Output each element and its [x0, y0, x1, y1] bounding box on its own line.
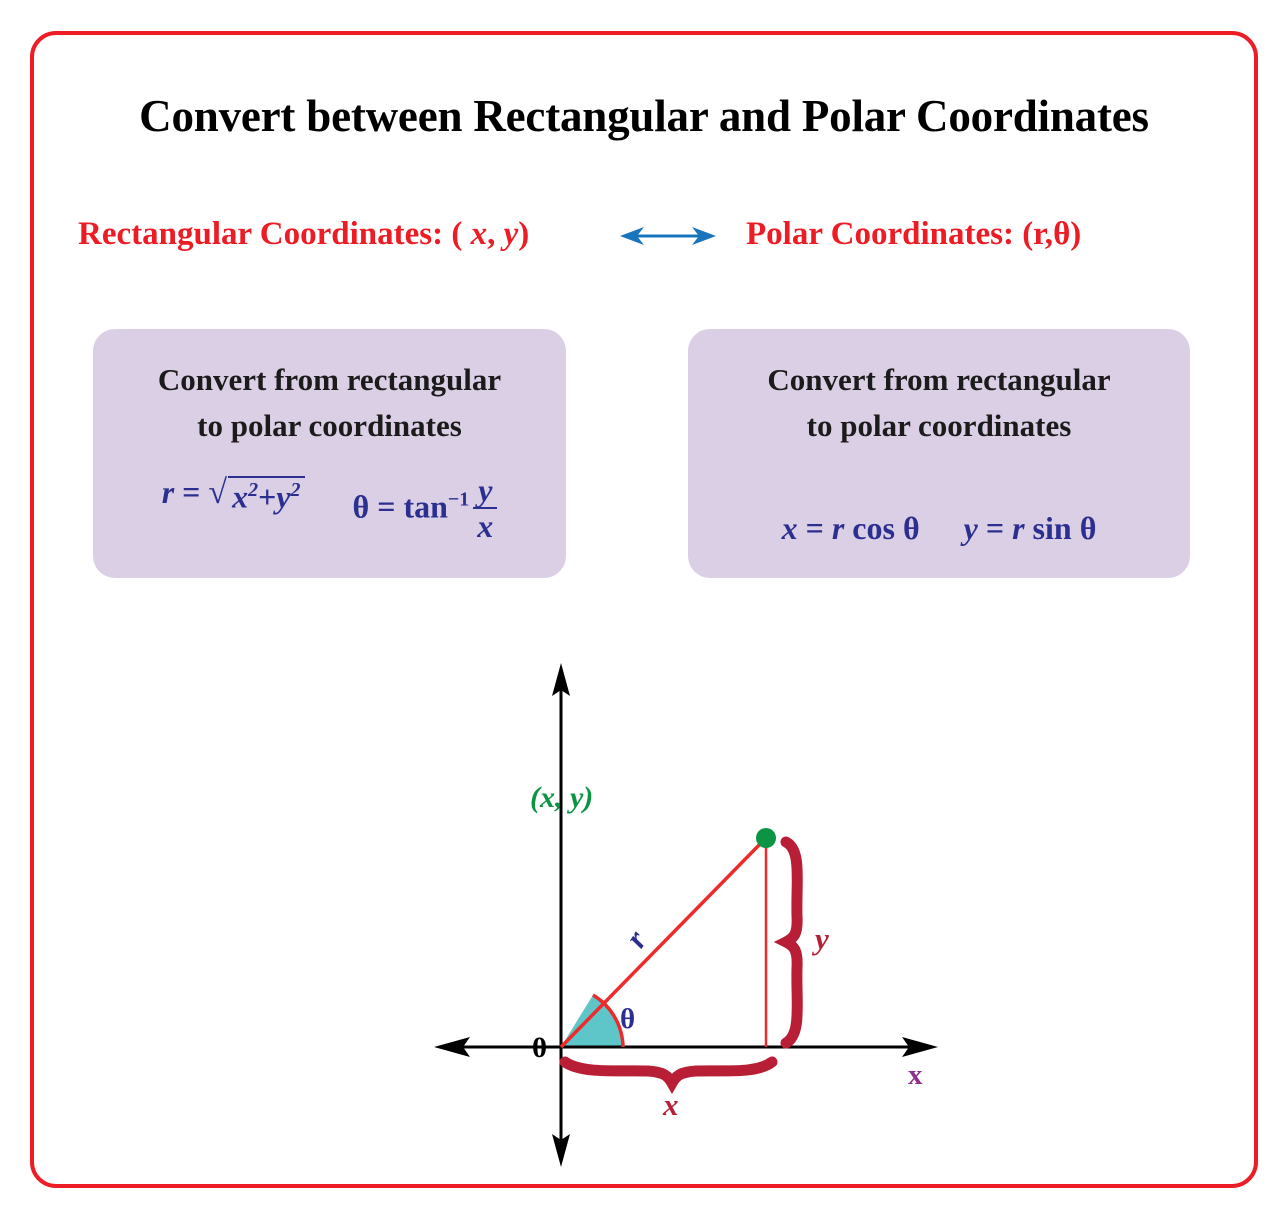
box-heading-right: Convert from rectangular to polar coordi…: [688, 357, 1190, 449]
formula-y-equation: y = r sin θ: [964, 512, 1097, 544]
polar-coordinates-label: Polar Coordinates: (r,θ): [746, 212, 1081, 256]
formula-y-angle-theta: θ: [1080, 510, 1097, 546]
rectangular-coordinates-label: Rectangular Coordinates: ( x, y): [78, 212, 529, 256]
fraction-numerator: y: [474, 474, 496, 507]
x-axis-label: x: [908, 1059, 923, 1092]
x-leg-label: x: [663, 1087, 679, 1123]
rectangular-var-x: x: [471, 216, 488, 252]
origin-label: 0: [532, 1031, 547, 1065]
formula-box-polar-to-rect: Convert from rectangular to polar coordi…: [688, 329, 1190, 578]
brace-x-icon: [565, 1062, 772, 1083]
formula-box-rect-to-polar: Convert from rectangular to polar coordi…: [93, 329, 566, 578]
point-label-xy: (x, y): [530, 781, 593, 815]
formula-theta-lhs: θ: [353, 488, 370, 524]
fraction-denominator: x: [473, 507, 497, 542]
formula-y-factor-r: r: [1012, 510, 1024, 546]
polar-coordinate-diagram: (x, y) 0 x y x θ r: [430, 650, 970, 1170]
formula-theta-equation: θ = tan−1yx: [353, 476, 498, 544]
formula-theta-func: tan: [403, 488, 447, 524]
formula-r-equation: r = √x2+y2: [162, 476, 305, 513]
page-title: Convert between Rectangular and Polar Co…: [0, 90, 1288, 142]
formula-theta-equals: =: [377, 488, 395, 524]
rectangular-comma: ,: [487, 216, 504, 252]
formula-y-lhs: y: [964, 510, 978, 546]
double-headed-arrow-icon: [618, 218, 718, 254]
formula-x-func-cos: cos: [852, 510, 895, 546]
rectangular-paren-close: ): [518, 216, 529, 252]
formula-y-func-sin: sin: [1033, 510, 1072, 546]
rectangular-coordinates-text: Rectangular Coordinates: (: [78, 216, 471, 252]
formula-x-factor-r: r: [832, 510, 844, 546]
formula-x-equals: =: [806, 510, 824, 546]
point-marker-dot: [756, 828, 776, 848]
formula-row-right: x = r cos θ y = r sin θ: [688, 512, 1190, 544]
rectangular-var-y: y: [504, 216, 519, 252]
formula-y-equals: =: [986, 510, 1004, 546]
formula-x-equation: x = r cos θ: [782, 512, 920, 544]
angle-theta-label: θ: [620, 1003, 635, 1036]
radicand-y: y: [276, 479, 290, 515]
polar-paren-close: ): [1070, 216, 1081, 252]
radicand: x2+y2: [228, 476, 304, 513]
brace-y-icon: [786, 842, 797, 1043]
formula-x-lhs: x: [782, 510, 798, 546]
polar-coordinates-text: Polar Coordinates: (r,: [746, 216, 1053, 252]
radius-line-r: [561, 838, 766, 1047]
radicand-y-exponent: 2: [291, 479, 301, 501]
box-heading-left: Convert from rectangular to polar coordi…: [93, 357, 566, 449]
polar-theta: θ: [1053, 216, 1070, 252]
coordinate-relation-row: Rectangular Coordinates: ( x, y) Polar C…: [78, 212, 1188, 260]
square-root-icon: √x2+y2: [208, 476, 304, 513]
formula-row-left: r = √x2+y2 θ = tan−1yx: [93, 476, 566, 544]
fraction-y-over-x: yx: [473, 474, 497, 542]
formula-r-equals: =: [182, 474, 200, 510]
radical-sign: √: [208, 476, 228, 513]
radicand-x: x: [232, 479, 248, 515]
formula-x-angle-theta: θ: [903, 510, 920, 546]
formula-theta-exponent: −1: [448, 489, 469, 511]
formula-r-lhs: r: [162, 474, 174, 510]
radicand-plus: +: [258, 479, 276, 515]
y-leg-label: y: [815, 921, 829, 957]
diagram-svg: [430, 650, 970, 1170]
radicand-x-exponent: 2: [248, 479, 258, 501]
